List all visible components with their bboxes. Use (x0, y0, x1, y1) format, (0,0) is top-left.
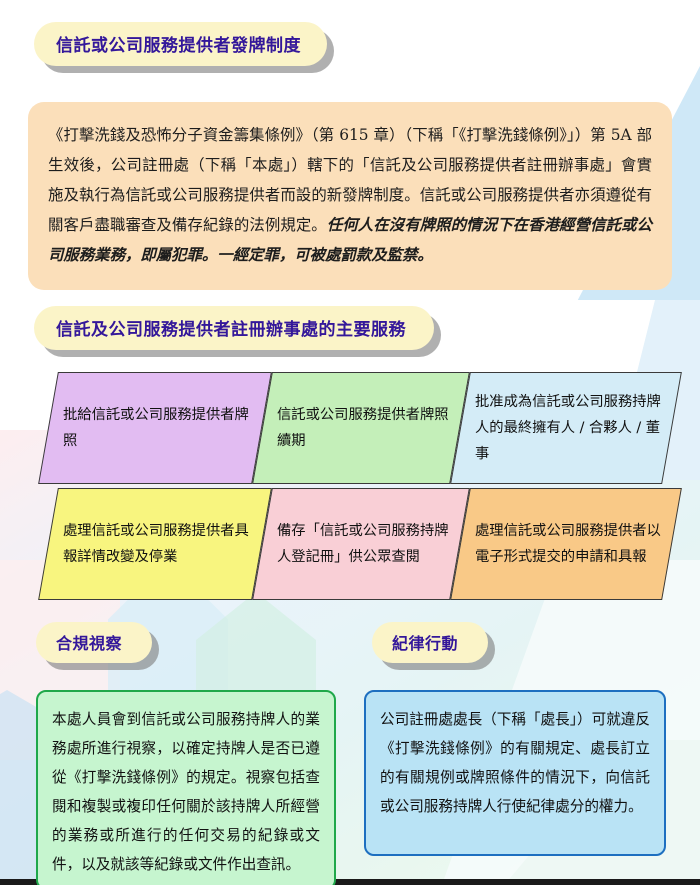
intro-paragraph: 《打擊洗錢及恐怖分子資金籌集條例》（第 615 章）（下稱「《打擊洗錢條例》」）… (48, 120, 652, 270)
service-cell-handle-changes-inner: 處理信託或公司服務提供者具報詳情改變及停業 (49, 489, 261, 599)
service-cell-electronic-submissions[interactable]: 處理信託或公司服務提供者以電子形式提交的申請和具報 (450, 488, 682, 600)
main-heading-pill: 信託或公司服務提供者發牌制度 (34, 22, 327, 66)
service-row-bottom: 處理信託或公司服務提供者具報詳情改變及停業 備存「信託或公司服務持牌人登記冊」供… (0, 488, 700, 606)
compliance-info-text: 本處人員會到信託或公司服務持牌人的業務處所進行視察，以確定持牌人是否已遵從《打擊… (38, 692, 334, 879)
infographic-page: 信託或公司服務提供者發牌制度 《打擊洗錢及恐怖分子資金籌集條例》（第 615 章… (0, 0, 700, 885)
service-cell-approve-ubo-inner: 批准成為信託或公司服務持牌人的最終擁有人 / 合夥人 / 董事 (461, 373, 671, 483)
service-row-top: 批給信託或公司服務提供者牌照 信託或公司服務提供者牌照續期 批准成為信託或公司服… (0, 372, 700, 490)
discipline-info-text: 公司註冊處處長（下稱「處長」）可就違反《打擊洗錢條例》的有關規定、處長訂立的有關… (366, 692, 664, 821)
service-cell-maintain-register-label: 備存「信託或公司服務持牌人登記冊」供公眾查閱 (277, 518, 449, 570)
service-cell-renew-licence-inner: 信託或公司服務提供者牌照續期 (263, 373, 459, 483)
intro-card: 《打擊洗錢及恐怖分子資金籌集條例》（第 615 章）（下稱「《打擊洗錢條例》」）… (28, 102, 672, 290)
service-cell-grant-licence-label: 批給信託或公司服務提供者牌照 (63, 402, 251, 454)
service-cell-handle-changes[interactable]: 處理信託或公司服務提供者具報詳情改變及停業 (38, 488, 272, 600)
compliance-heading-container: 合規視察 (36, 622, 152, 663)
discipline-info-box: 公司註冊處處長（下稱「處長」）可就違反《打擊洗錢條例》的有關規定、處長訂立的有關… (364, 690, 666, 856)
discipline-heading-pill: 紀律行動 (372, 622, 488, 663)
services-heading-pill: 信託及公司服務提供者註冊辦事處的主要服務 (34, 306, 434, 350)
compliance-heading-pill: 合規視察 (36, 622, 152, 663)
service-cell-electronic-submissions-label: 處理信託或公司服務提供者以電子形式提交的申請和具報 (475, 518, 661, 570)
service-cell-renew-licence-label: 信託或公司服務提供者牌照續期 (277, 402, 449, 454)
service-cell-handle-changes-label: 處理信託或公司服務提供者具報詳情改變及停業 (63, 518, 251, 570)
compliance-info-box: 本處人員會到信託或公司服務持牌人的業務處所進行視察，以確定持牌人是否已遵從《打擊… (36, 690, 336, 885)
service-cell-grant-licence-inner: 批給信託或公司服務提供者牌照 (49, 373, 261, 483)
services-heading-container: 信託及公司服務提供者註冊辦事處的主要服務 (34, 306, 434, 350)
service-cell-renew-licence[interactable]: 信託或公司服務提供者牌照續期 (252, 372, 470, 484)
service-cell-approve-ubo[interactable]: 批准成為信託或公司服務持牌人的最終擁有人 / 合夥人 / 董事 (450, 372, 682, 484)
service-cell-electronic-submissions-inner: 處理信託或公司服務提供者以電子形式提交的申請和具報 (461, 489, 671, 599)
discipline-heading-container: 紀律行動 (372, 622, 488, 663)
service-cell-maintain-register-inner: 備存「信託或公司服務持牌人登記冊」供公眾查閱 (263, 489, 459, 599)
service-cell-maintain-register[interactable]: 備存「信託或公司服務持牌人登記冊」供公眾查閱 (252, 488, 470, 600)
main-heading-container: 信託或公司服務提供者發牌制度 (34, 22, 327, 66)
service-cell-approve-ubo-label: 批准成為信託或公司服務持牌人的最終擁有人 / 合夥人 / 董事 (475, 389, 661, 467)
service-cell-grant-licence[interactable]: 批給信託或公司服務提供者牌照 (38, 372, 272, 484)
